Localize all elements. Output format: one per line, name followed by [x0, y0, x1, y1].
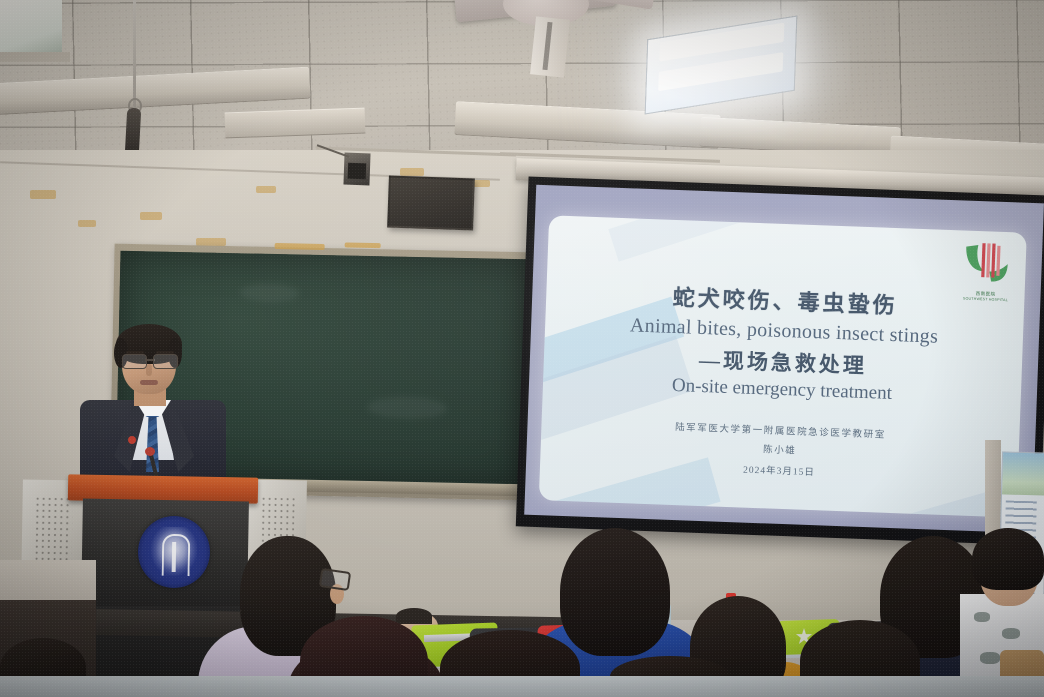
camera-lens-icon — [348, 163, 367, 180]
hospital-logo-mark — [961, 240, 1013, 286]
presenter-nose — [146, 364, 152, 376]
chalk-smudge — [367, 396, 447, 420]
presenter-badge — [128, 436, 136, 444]
glasses-lens-right — [153, 354, 178, 369]
chalk-smudge — [239, 283, 299, 302]
wall-tape-mark — [78, 220, 96, 227]
lower-wall-left — [0, 560, 96, 605]
wall-tape-mark — [30, 190, 56, 199]
window-frame — [0, 52, 70, 62]
classroom-photo: Mitsubishi Electric — [0, 0, 1044, 697]
poster-image — [1002, 452, 1044, 495]
ceiling-beam-2 — [225, 108, 366, 139]
slide-footer: 陆军军医大学第一附属医院急诊医学教研室 陈小雄 2024年3月15日 — [540, 414, 1020, 485]
slide-accent-band — [608, 215, 790, 261]
table-front-row — [0, 676, 1044, 697]
presentation-slide: 西南医院 SOUTHWEST HOSPITAL 蛇犬咬伤、毒虫蛰伤 Animal… — [539, 215, 1027, 517]
wall-speaker — [387, 176, 475, 231]
pull-cord[interactable] — [133, 0, 136, 112]
projector-screen-field: 西南医院 SOUTHWEST HOSPITAL 蛇犬咬伤、毒虫蛰伤 Animal… — [524, 185, 1044, 533]
cpr-manikin-hair — [396, 608, 432, 624]
floral-pattern — [974, 612, 990, 622]
presenter-mouth — [140, 380, 158, 385]
wall-tape-mark — [140, 212, 162, 220]
hospital-logo: 西南医院 SOUTHWEST HOSPITAL — [958, 240, 1014, 304]
glasses-lens-left — [122, 354, 147, 369]
slide-text-block: 蛇犬咬伤、毒虫蛰伤 Animal bites, poisonous insect… — [540, 275, 1025, 485]
attendee-glasses-icon — [319, 568, 351, 591]
ceiling-fan — [455, 0, 615, 86]
emblem-stem — [172, 542, 177, 572]
blackboard-chip — [345, 242, 381, 248]
floral-pattern — [1002, 628, 1020, 639]
wall-tape-mark — [256, 186, 276, 193]
hospital-logo-caption-en: SOUTHWEST HOSPITAL — [958, 296, 1012, 302]
attendee-floral-blouse-hair — [972, 528, 1044, 590]
attendee-blue-top-head — [560, 528, 670, 656]
blackboard-chip — [275, 243, 325, 250]
floral-pattern — [980, 652, 1000, 664]
microphone-icon — [145, 447, 155, 456]
projector-screen: 西南医院 SOUTHWEST HOSPITAL 蛇犬咬伤、毒虫蛰伤 Animal… — [516, 177, 1044, 546]
